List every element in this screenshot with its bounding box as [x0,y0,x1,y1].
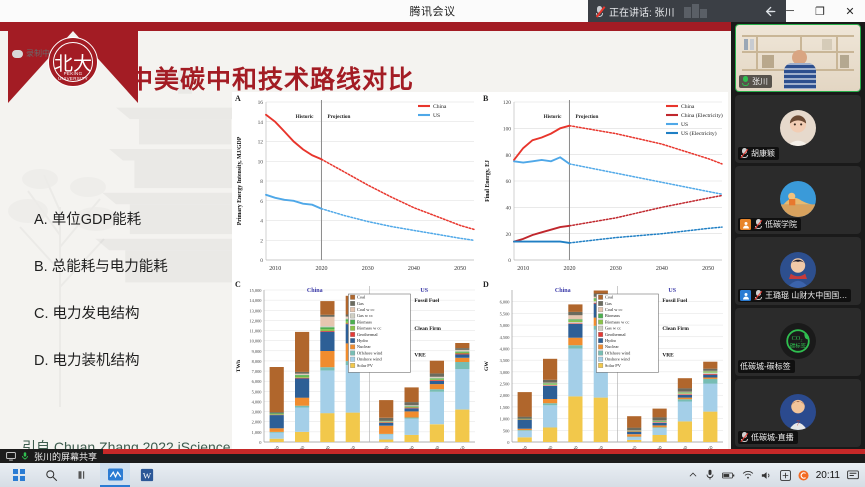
bar-segment [518,431,532,438]
legend-label: Geothermal [605,332,627,337]
bar-segment [678,392,692,393]
bar-segment [320,301,334,315]
participant-nametag: 低碳城-直播 [738,431,798,444]
window-titlebar: 腾讯会议 正在讲话: 张川 ─ ❐ ✕ [0,0,865,22]
bar-segment [518,420,532,429]
slide-title: 中美碳中和技术路线对比 [128,60,414,96]
y-tick-label: 20 [506,232,512,238]
bar-segment [379,423,393,426]
panel-letter-B: B [483,94,489,103]
bar-segment [430,380,444,381]
bar-segment [568,315,582,319]
bar-segment [430,392,444,424]
active-speaker-indicator: 正在讲话: 张川 [588,0,756,22]
bar-segment [568,304,582,312]
participant-tile-3[interactable]: 低碳学院 [735,166,861,234]
taskbar-app-tencent-meeting[interactable] [100,463,130,487]
legend-swatch [350,363,355,368]
bar-segment [379,440,393,443]
y-tick-label: 5,500 [500,311,511,317]
maximize-button[interactable]: ❐ [805,0,835,22]
legend-label: China [433,104,447,110]
bullet-item-a: A. 单位GDP能耗 [34,208,168,229]
x-tick-label: 2040 [656,266,668,272]
bar-segment [703,379,717,384]
legend-label: Hydro [357,338,369,343]
participant-name: 低碳城-直播 [751,432,794,443]
legend-swatch [598,320,603,325]
y-tick-label: 6,000 [252,379,263,385]
participant-tile-2[interactable]: 胡康颖 [735,95,861,163]
participant-name: 张川 [752,76,768,87]
close-button[interactable]: ✕ [835,0,865,22]
y-tick-label: 8,000 [252,359,263,365]
bar-segment [543,399,557,403]
y-tick-label: 1,500 [500,405,511,411]
bar-segment [430,381,444,384]
y-tick-label: 4,000 [500,346,511,352]
bar-segment [703,374,717,375]
search-icon[interactable] [36,463,66,487]
y-tick-label: 60 [506,179,512,185]
legend-swatch [350,295,355,300]
bar-segment [703,362,717,369]
bar-segment [543,359,557,380]
legend-label: Gas w cc [357,313,373,318]
wifi-icon[interactable] [742,470,754,480]
y-tick-label: 100 [503,127,511,133]
legend-group-vre: VRE [662,353,674,359]
bar-segment [455,410,469,442]
bar-segment [653,417,667,420]
legend-swatch [598,295,603,300]
legend-group-clean: Clean Firm [662,326,689,332]
legend-label: Biomass w cc [357,326,381,331]
bar-segment [678,394,692,395]
bar-segment [543,380,557,383]
x-tick-label: 2030 [610,266,622,272]
bar-segment [320,315,334,317]
bar-segment [678,395,692,398]
ime-icon[interactable] [780,470,791,481]
bar-segment [543,386,557,399]
bar-segment [270,432,284,433]
participant-name: 王璐琨 山财大中国国… [765,290,847,301]
notification-icon[interactable] [847,470,859,481]
bar-segment [703,372,717,373]
y-tick-label: 4,500 [500,335,511,341]
mic-icon[interactable] [705,469,715,481]
legend-swatch [598,345,603,350]
legend-label: Biomass w cc [605,319,629,324]
bar-segment [703,369,717,371]
y-tick-label: 1,000 [252,430,263,436]
bar-segment [568,345,582,348]
bar-segment [518,429,532,430]
svg-text:CO₂: CO₂ [792,335,803,342]
mic-icon [20,451,30,461]
x-tick-label: 2020 [563,266,575,272]
chart-panel-d: D05001,0001,5002,0002,5003,0003,5004,000… [480,278,728,449]
mic-muted-icon [754,290,762,301]
legend-group-clean: Clean Firm [414,326,441,332]
legend-swatch [350,320,355,325]
participant-name: 胡康颖 [751,148,775,159]
y-tick-label: 10,000 [249,339,262,345]
bar-segment [678,393,692,394]
bar-segment [543,428,557,443]
bar-segment [568,349,582,397]
participant-nametag: 低碳城-碳标签 [738,360,795,373]
role-badge-cohost [740,290,751,301]
legend-label: Geothermal [357,332,379,337]
legend-label: Biomass [357,319,372,324]
battery-icon[interactable] [722,471,735,480]
bar-segment [379,422,393,423]
bar-segment [653,428,667,435]
avatar [780,252,816,288]
y-tick-label: 14,000 [249,298,262,304]
y-tick-label: 1,000 [500,417,511,423]
legend-label: Offshore wind [605,350,631,355]
recording-cloud-icon [12,50,23,58]
bar-segment [430,424,444,442]
y-tick-label: 15,000 [249,288,262,294]
bar-segment [568,319,582,320]
bar-segment [379,434,393,435]
legend-swatch [598,332,603,337]
y-axis-label: Primary Energy Intensity, MJ/GDP [237,136,243,225]
region-label-china: China [307,288,323,294]
legend-label: Onshore wind [605,357,631,362]
task-view-icon[interactable] [68,463,98,487]
bar-segment [295,432,309,442]
bar-segment [627,437,641,438]
region-label-us: US [420,288,428,294]
bar-segment [405,435,419,442]
screen-share-banner: 张川的屏幕共享 [0,449,103,463]
avatar [780,181,816,217]
active-speaker-label: 正在讲话: 张川 [609,4,675,19]
y-tick-label: 2,000 [252,420,263,426]
y-tick-label: 7,000 [252,369,263,375]
y-axis-label: Final Energy, EJ [485,160,491,202]
bar-segment [379,400,393,418]
bar-segment [703,371,717,372]
series-line-projection [570,196,723,226]
bar-segment [678,398,692,400]
panel-letter-D: D [483,280,489,289]
bar-segment [270,433,284,439]
legend-label: Gas [357,301,364,306]
legend-label: Nuclear [357,344,371,349]
bar-segment [379,418,393,421]
bar-segment [320,317,334,326]
y-tick-label: 10 [258,159,264,165]
y-tick-label: 80 [506,153,512,159]
bar-segment [405,407,419,408]
y-tick-label: 120 [503,100,511,106]
y-tick-label: 2,500 [500,382,511,388]
mic-muted-icon [740,148,748,159]
svg-text:7: 7 [796,419,800,427]
legend-label: US (Electricity) [681,130,717,137]
annotation-historic: Historic [296,114,315,120]
series-line-historic [514,157,570,164]
bar-segment [430,377,444,378]
window-controls: ─ ❐ ✕ [775,0,865,22]
bar-segment [678,388,692,392]
bar-segment [568,322,582,323]
series-line-projection [570,227,723,243]
series-line-projection [570,164,723,194]
svg-text:碳标签: 碳标签 [790,341,807,349]
bar-segment [568,323,582,324]
bar-segment [430,378,444,379]
x-tick-label: 2040 [408,266,420,272]
y-tick-label: 4 [260,219,263,225]
slide-accent-bar [0,22,731,31]
x-tick-label: 2020 [315,266,327,272]
audio-waveform-icon [684,4,707,18]
participant-name: 低碳城-碳标签 [740,361,791,372]
mic-muted-icon [740,432,748,443]
x-tick-label: 2010 [517,266,529,272]
participant-sidebar[interactable]: 张川胡康颖低碳学院王璐琨 山财大中国国…CO₂碳标签低碳城-碳标签7低碳城-直播 [731,22,865,449]
bar-segment [653,421,667,422]
chart-panel-b: B02040608010012020102020203020402050Hist… [480,92,728,282]
bar-segment [405,411,419,417]
legend-group-vre: VRE [414,353,426,359]
bar-segment [405,387,419,402]
region-label-china: China [555,288,571,294]
bar-segment [543,383,557,384]
bar-segment [346,413,360,442]
bar-segment [320,332,334,351]
bar-segment [703,378,717,379]
panel-letter-C: C [235,280,241,289]
y-tick-label: 14 [258,120,264,126]
participant-tile-5[interactable]: CO₂碳标签低碳城-碳标签 [735,308,861,376]
participant-tile-4[interactable]: 王璐琨 山财大中国国… [735,237,861,305]
legend-label: Coal w cc [605,307,623,312]
legend-label: China (Electricity) [681,112,723,119]
bar-segment [653,423,667,426]
legend-label: Coal w cc [357,307,375,312]
participant-name: 低碳学院 [765,219,797,230]
legend-label: Offshore wind [357,350,383,355]
taskbar-app-word[interactable]: W [132,463,162,487]
bar-segment [455,354,469,357]
bar-segment [430,378,444,379]
bar-segment [518,430,532,431]
legend-label: Biomass [605,313,620,318]
bar-segment [627,440,641,442]
screen: 腾讯会议 正在讲话: 张川 ─ ❐ ✕ [0,0,865,487]
y-tick-label: 0 [260,258,263,264]
bar-segment [295,332,309,372]
bar-segment [703,375,717,378]
legend-swatch [350,314,355,319]
bar-segment [455,353,469,354]
bar-segment [518,417,532,419]
y-tick-label: 16 [258,100,264,106]
chart-panel-c: C01,0002,0003,0004,0005,0006,0007,0008,0… [232,278,480,449]
mic-on-icon [741,76,749,87]
bar-segment [568,312,582,315]
windows-start-icon[interactable] [4,463,34,487]
bar-segment [295,378,309,397]
legend-label: US [433,113,440,119]
legend-swatch [598,363,603,368]
legend-label: Solar PV [357,363,374,368]
bar-segment [594,398,608,442]
legend-swatch [598,351,603,356]
series-line-projection [322,159,475,229]
legend-swatch [350,307,355,312]
bar-segment [430,384,444,389]
x-tick-label: 2010 [269,266,281,272]
legend-swatch [350,326,355,331]
mic-muted-icon [754,219,762,230]
bar-segment [543,384,557,385]
legend-label: Gas [605,301,612,306]
y-tick-label: 3,500 [500,358,511,364]
participant-nametag: 胡康颖 [738,147,779,160]
bar-segment [703,372,717,373]
legend-label: Solar PV [605,363,622,368]
svg-text:W: W [143,471,152,481]
participant-tile-1[interactable]: 张川 [735,24,861,92]
bar-segment [270,414,284,415]
y-axis-label: GW [484,361,490,371]
y-tick-label: 8 [260,179,263,185]
bar-segment [405,408,419,409]
recording-indicator: 录制中 [12,48,50,59]
series-line-historic [514,242,570,243]
screen-share-icon [6,451,16,461]
legend-swatch [350,357,355,362]
bar-segment [627,437,641,440]
windows-taskbar: W 20:11 [0,463,865,487]
x-tick-label: 2030 [362,266,374,272]
bar-segment [405,408,419,411]
bar-segment [678,399,692,401]
bar-segment [543,385,557,386]
taskbar-clock[interactable]: 20:11 [816,470,840,481]
annotation-historic: Historic [544,114,563,120]
volume-icon[interactable] [761,470,773,481]
y-tick-label: 9,000 [252,349,263,355]
bar-segment [379,434,393,439]
university-banner: 北大 PEKING UNIVERSITY [8,31,138,109]
participant-tile-6[interactable]: 7低碳城-直播 [735,379,861,447]
bar-segment [455,350,469,351]
legend-label: Coal [357,295,366,300]
bar-segment [295,398,309,406]
bar-segment [518,437,532,442]
bar-segment [320,329,334,331]
bar-segment [270,428,284,432]
bar-segment [405,406,419,407]
avatar: CO₂碳标签 [780,323,816,359]
bar-segment [653,422,667,423]
slide-citation: 引自 Chuan Zhang 2022 iScience [22,437,231,449]
minimize-button[interactable]: ─ [775,0,805,22]
y-tick-label: 13,000 [249,308,262,314]
bar-segment [405,418,419,419]
legend-label: Hydro [605,338,617,343]
bar-segment [405,419,419,435]
legend-swatch [598,307,603,312]
bar-segment [295,377,309,378]
legend-swatch [598,326,603,331]
sogou-icon[interactable] [798,470,809,481]
bar-segment [678,394,692,395]
bullet-item-d: D. 电力装机结构 [34,349,168,370]
bar-segment [455,354,469,355]
bar-segment [295,406,309,408]
screen-share-label: 张川的屏幕共享 [34,450,97,463]
chevron-up-icon[interactable] [688,470,698,480]
legend-swatch [350,345,355,350]
bar-segment [270,415,284,428]
participant-nametag: 王璐琨 山财大中国国… [738,289,851,302]
annotation-projection: Projection [575,114,598,120]
legend-swatch [598,301,603,306]
bar-segment [678,421,692,442]
y-tick-label: 40 [506,206,512,212]
shared-screen-content: 北大 PEKING UNIVERSITY 录制中 中美碳中和技术路线对比 A. … [0,22,731,449]
bar-segment [295,372,309,374]
bar-segment [455,358,469,362]
bar-segment [568,338,582,346]
slide-bullet-list: A. 单位GDP能耗 B. 总能耗与电力能耗 C. 电力发电结构 D. 电力装机… [34,208,168,370]
legend-swatch [350,301,355,306]
panel-letter-A: A [235,94,241,103]
y-tick-label: 5,000 [252,389,263,395]
series-line-historic [266,195,322,209]
bar-segment [320,413,334,442]
bar-segment [405,406,419,407]
y-tick-label: 12,000 [249,318,262,324]
avatar: 7 [780,394,816,430]
bar-segment [295,375,309,376]
bar-segment [703,373,717,374]
bar-segment [543,403,557,405]
bar-segment [270,439,284,442]
bar-segment [653,421,667,422]
legend-label: Onshore wind [357,357,383,362]
bar-segment [320,351,334,367]
bar-segment [678,378,692,388]
legend-label: Coal [605,295,614,300]
mic-muted-icon [595,5,604,18]
bar-segment [518,419,532,420]
annotation-projection: Projection [327,114,350,120]
legend-label: Gas w cc [605,326,621,331]
legend-swatch [598,314,603,319]
avatar [780,110,816,146]
bar-segment [295,378,309,379]
participant-nametag: 低碳学院 [738,218,801,231]
y-tick-label: 12 [258,140,264,146]
legend-swatch [350,338,355,343]
seal-subtext: PEKING UNIVERSITY [49,71,97,81]
y-tick-label: 6 [260,199,263,205]
bar-segment [405,402,419,405]
legend-label: US [681,122,688,128]
